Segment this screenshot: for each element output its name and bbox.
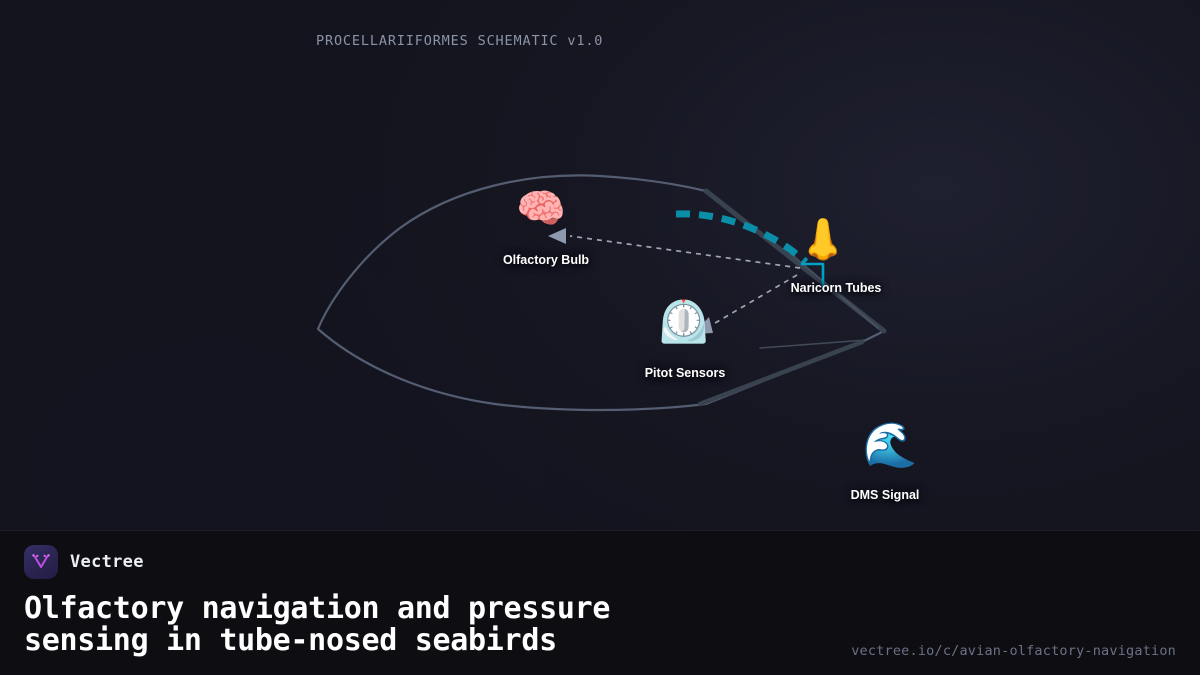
footer-bar: Vectree Olfactory navigation and pressur… — [0, 530, 1200, 675]
brand-name: Vectree — [70, 552, 144, 572]
node-label-olfactory-bulb: Olfactory Bulb — [503, 253, 589, 267]
vectree-logo-glyph — [30, 551, 52, 573]
brain-icon: 🧠 — [516, 189, 566, 229]
headline-line-2: sensing in tube-nosed seabirds — [24, 625, 784, 657]
page-title: Olfactory navigation and pressure sensin… — [24, 593, 784, 658]
vectree-branching-v-logo — [24, 545, 58, 579]
screenshot-root: PROCELLARIIFORMES SCHEMATIC v1.0 — [0, 0, 1200, 675]
footer-url[interactable]: vectree.io/c/avian-olfactory-navigation — [851, 643, 1176, 659]
diagram-vector-layer — [0, 0, 1200, 530]
node-label-naricorn-tubes: Naricorn Tubes — [791, 281, 882, 295]
node-label-dms-signal: DMS Signal — [851, 488, 920, 502]
diagram-canvas: 🧠 Olfactory Bulb 👃 Naricorn Tubes ⏲️ Pit… — [0, 0, 1200, 530]
nose-icon: 👃 — [798, 220, 848, 260]
water-wave-icon: 🌊 — [863, 424, 918, 468]
headline-line-1: Olfactory navigation and pressure — [24, 593, 784, 625]
timer-clock-icon: ⏲️ — [658, 301, 710, 343]
brand-row[interactable]: Vectree — [24, 545, 144, 579]
node-label-pitot-sensors: Pitot Sensors — [645, 366, 726, 380]
connector-naricorn-to-pitot — [710, 275, 797, 326]
